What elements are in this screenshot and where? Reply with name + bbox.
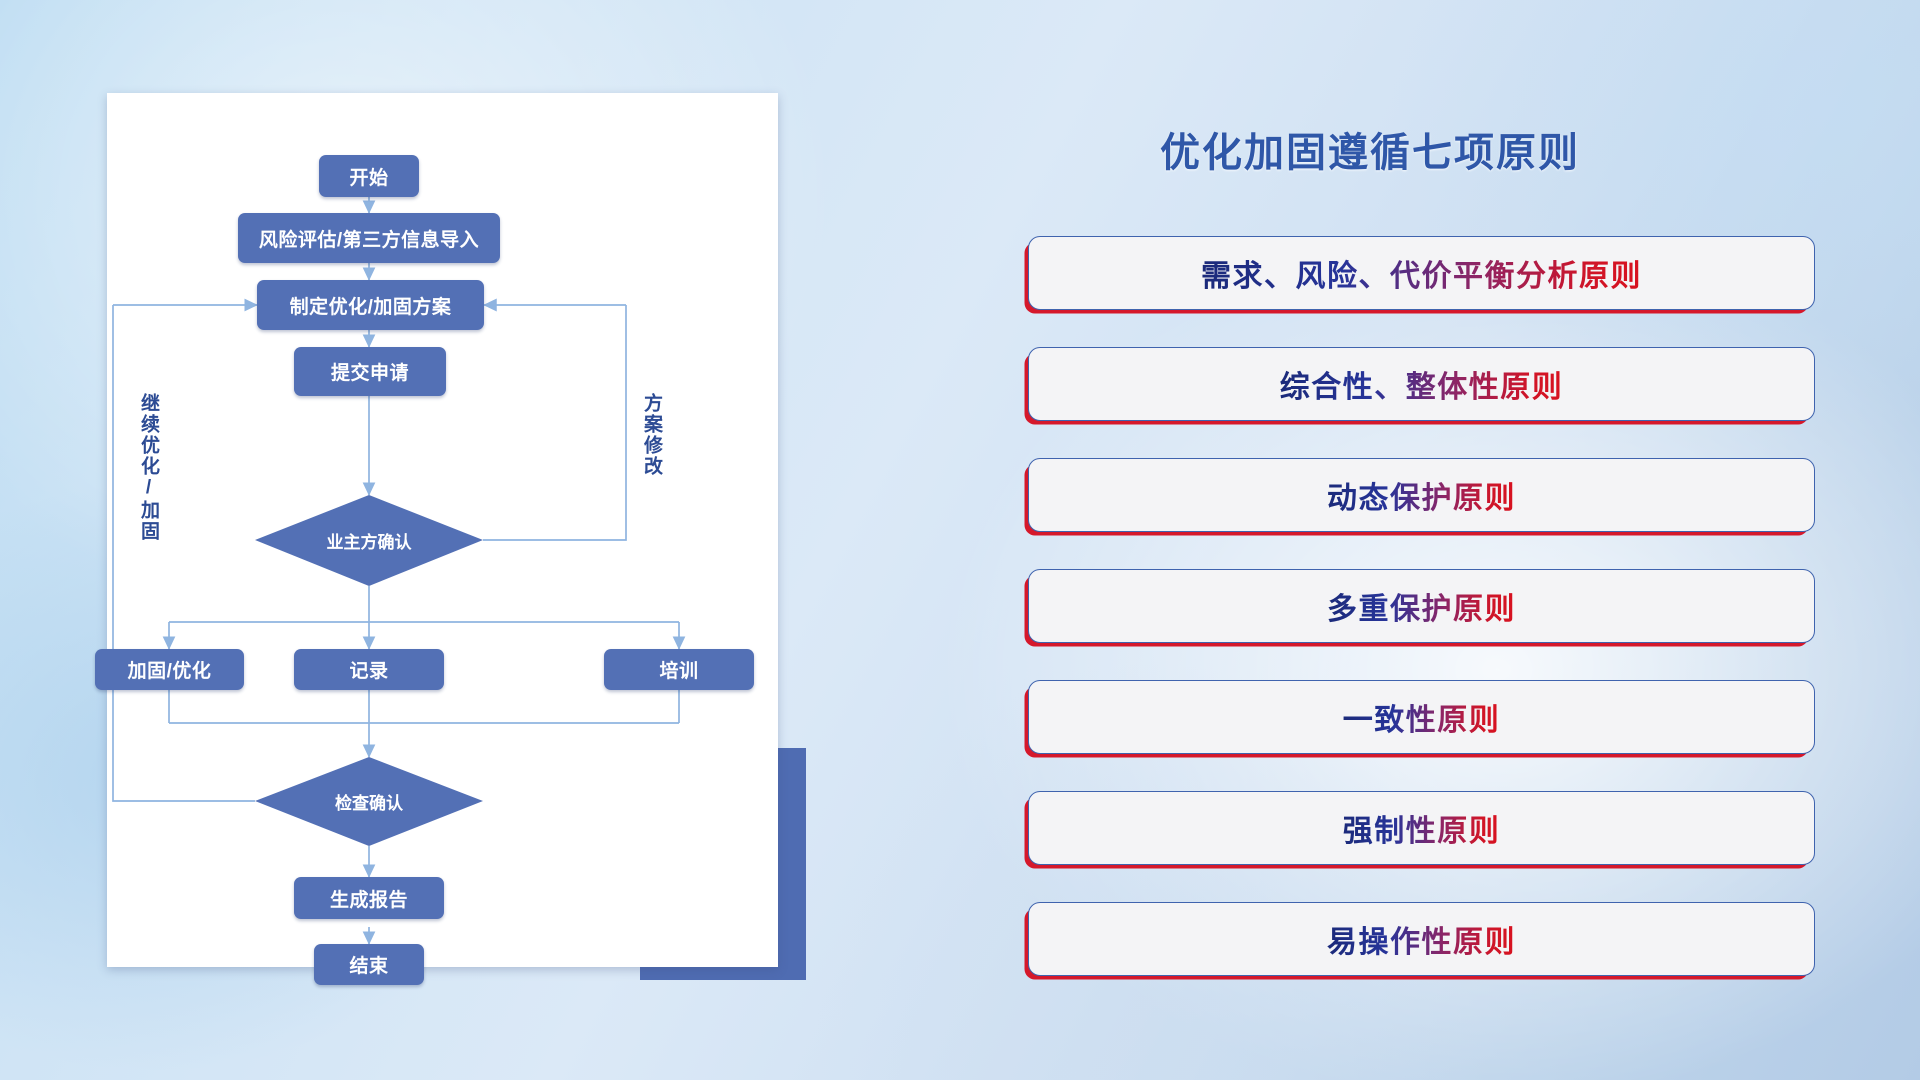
flow-node-risk-assessment[interactable]: 风险评估/第三方信息导入 — [238, 213, 500, 263]
principle-label: 综合性、整体性原则 — [1280, 362, 1564, 406]
flow-node-plan[interactable]: 制定优化/加固方案 — [257, 280, 484, 330]
edge-label-continue-optimize: 继续优化/加固 — [135, 393, 162, 542]
principle-card-5[interactable]: 一致性原则 — [1028, 680, 1815, 754]
flow-node-train[interactable]: 培训 — [604, 649, 754, 690]
principles-panel: 优化加固遵循七项原则 需求、风险、代价平衡分析原则 综合性、整体性原则 动态保护… — [1010, 90, 1870, 1010]
flow-node-start[interactable]: 开始 — [319, 155, 419, 197]
flow-node-report[interactable]: 生成报告 — [294, 877, 444, 919]
principle-label: 动态保护原则 — [1327, 473, 1516, 517]
edge-label-plan-revision: 方案修改 — [638, 393, 665, 477]
flow-node-record[interactable]: 记录 — [294, 649, 444, 690]
principle-label: 多重保护原则 — [1327, 584, 1516, 628]
principle-label: 易操作性原则 — [1327, 917, 1516, 961]
flow-node-owner-confirm[interactable]: 业主方确认 — [289, 523, 449, 557]
principle-card-4[interactable]: 多重保护原则 — [1028, 569, 1815, 643]
principle-card-1[interactable]: 需求、风险、代价平衡分析原则 — [1028, 236, 1815, 310]
principle-label: 强制性原则 — [1343, 806, 1501, 850]
principles-title: 优化加固遵循七项原则 — [1160, 120, 1580, 178]
principle-label: 需求、风险、代价平衡分析原则 — [1201, 251, 1642, 295]
principle-card-6[interactable]: 强制性原则 — [1028, 791, 1815, 865]
principle-label: 一致性原则 — [1343, 695, 1501, 739]
flow-node-check-confirm[interactable]: 检查确认 — [297, 785, 441, 818]
flow-node-submit[interactable]: 提交申请 — [294, 347, 446, 396]
principle-card-2[interactable]: 综合性、整体性原则 — [1028, 347, 1815, 421]
flow-node-reinforce[interactable]: 加固/优化 — [95, 649, 244, 690]
flowchart-panel: 开始 风险评估/第三方信息导入 制定优化/加固方案 提交申请 业主方确认 加固/… — [107, 93, 778, 967]
flow-node-end[interactable]: 结束 — [314, 944, 424, 985]
principle-card-3[interactable]: 动态保护原则 — [1028, 458, 1815, 532]
principle-card-7[interactable]: 易操作性原则 — [1028, 902, 1815, 976]
